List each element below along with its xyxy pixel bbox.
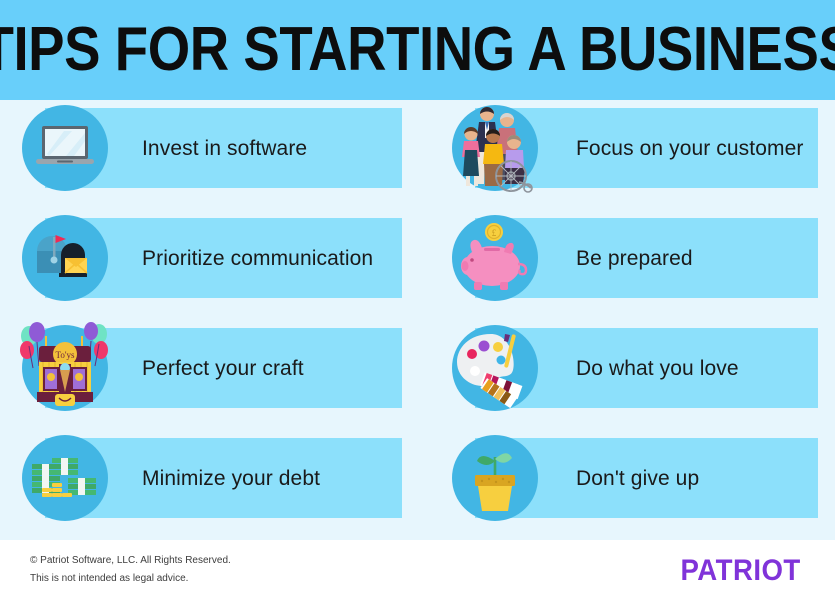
tip-label: Be prepared bbox=[576, 218, 806, 298]
tip-icon-badge bbox=[452, 105, 538, 191]
tip-label: Prioritize communication bbox=[142, 218, 392, 298]
mailbox-icon bbox=[33, 229, 97, 287]
tip-label: Don't give up bbox=[576, 438, 806, 518]
page-title: TIPS FOR STARTING A BUSINESS bbox=[0, 19, 835, 81]
tip-icon-badge bbox=[452, 435, 538, 521]
tip-icon-badge bbox=[22, 105, 108, 191]
potted-plant-icon bbox=[461, 443, 529, 513]
tip-label: Focus on your customer bbox=[576, 108, 806, 188]
tip-icon-badge bbox=[452, 325, 538, 411]
tips-grid: Invest in software bbox=[0, 100, 835, 540]
tips-column-right: Focus on your customer £ bbox=[452, 100, 835, 540]
paint-palette-icon bbox=[453, 328, 537, 408]
tip-row[interactable]: Prioritize communication bbox=[22, 210, 422, 306]
tip-icon-badge bbox=[22, 435, 108, 521]
copyright-text: © Patriot Software, LLC. All Rights Rese… bbox=[30, 552, 231, 570]
tip-row[interactable]: Don't give up bbox=[452, 430, 835, 526]
tip-row[interactable]: Do what you love bbox=[452, 320, 835, 416]
header-banner: TIPS FOR STARTING A BUSINESS bbox=[0, 0, 835, 100]
group-of-people-icon bbox=[449, 102, 541, 194]
tip-icon-badge: £ bbox=[452, 215, 538, 301]
tip-label: Invest in software bbox=[142, 108, 392, 188]
tip-row[interactable]: To'ys bbox=[22, 320, 422, 416]
laptop-icon bbox=[34, 122, 96, 174]
tip-icon-badge: To'ys bbox=[22, 325, 108, 411]
tip-label: Minimize your debt bbox=[142, 438, 392, 518]
shop-storefront-icon: To'ys bbox=[15, 320, 115, 416]
infographic-canvas: TIPS FOR STARTING A BUSINESS bbox=[0, 0, 835, 600]
patriot-logo: PATRIOT bbox=[681, 556, 801, 586]
tip-row[interactable]: Invest in software bbox=[22, 100, 422, 196]
tip-row[interactable]: Focus on your customer bbox=[452, 100, 835, 196]
tip-label: Perfect your craft bbox=[142, 328, 392, 408]
piggy-bank-icon: £ bbox=[456, 222, 534, 294]
svg-text:To'ys: To'ys bbox=[56, 350, 75, 360]
tips-column-left: Invest in software bbox=[22, 100, 422, 540]
disclaimer-text: This is not intended as legal advice. bbox=[30, 570, 231, 588]
svg-text:£: £ bbox=[492, 228, 497, 238]
footer: © Patriot Software, LLC. All Rights Rese… bbox=[0, 540, 835, 600]
tip-row[interactable]: £ Be prepared bbox=[452, 210, 835, 306]
tip-icon-badge bbox=[22, 215, 108, 301]
footer-legal: © Patriot Software, LLC. All Rights Rese… bbox=[30, 552, 231, 588]
cash-stack-icon bbox=[30, 450, 100, 506]
tip-label: Do what you love bbox=[576, 328, 806, 408]
tip-row[interactable]: Minimize your debt bbox=[22, 430, 422, 526]
